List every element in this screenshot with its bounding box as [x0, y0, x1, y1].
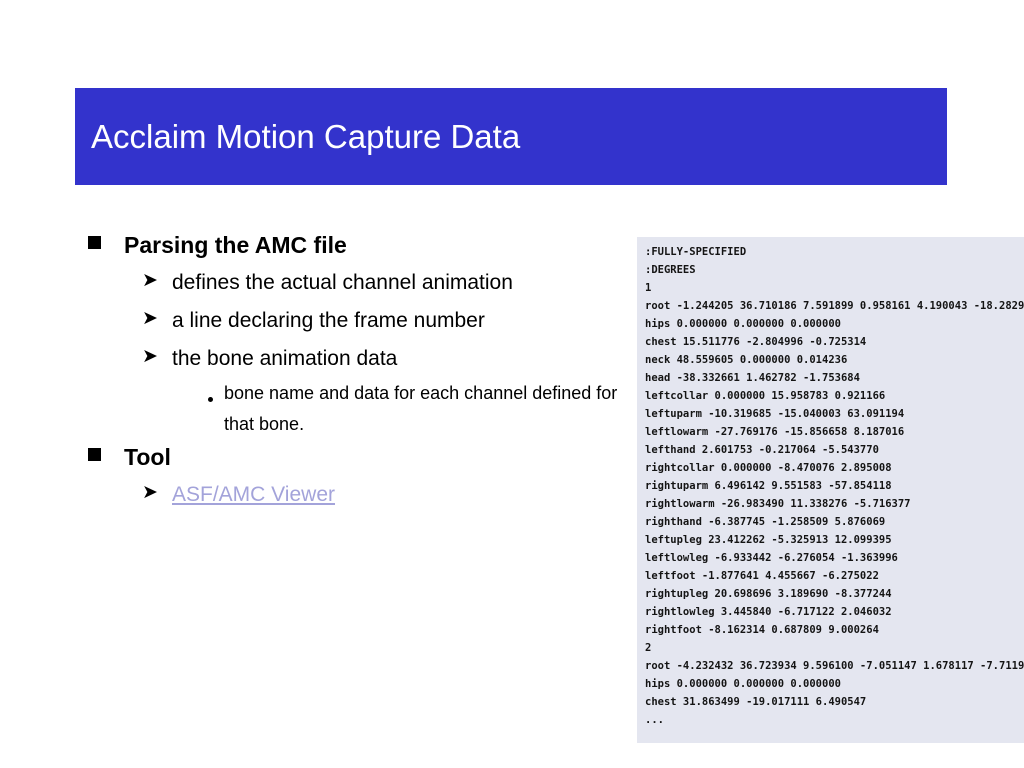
slide-title-bar: Acclaim Motion Capture Data	[75, 88, 947, 185]
round-dot-bullet-icon	[208, 397, 213, 402]
outline-item-label: Parsing the AMC file	[124, 228, 628, 262]
code-line: leftfoot -1.877641 4.455667 -6.275022	[645, 567, 1024, 585]
arrowhead-bullet-icon: ➤	[142, 270, 158, 290]
code-line: neck 48.559605 0.000000 0.014236	[645, 351, 1024, 369]
square-bullet-icon	[88, 236, 101, 249]
outline-item-level2: ➤the bone animation data	[142, 340, 628, 378]
outline-item-label: Tool	[124, 440, 628, 474]
outline-item-level1: Parsing the AMC file	[88, 228, 628, 262]
outline-item-label: a line declaring the frame number	[172, 302, 628, 340]
arrowhead-bullet-icon: ➤	[142, 302, 172, 328]
code-line: :FULLY-SPECIFIED	[645, 243, 1024, 261]
code-line: leftlowleg -6.933442 -6.276054 -1.363996	[645, 549, 1024, 567]
square-bullet-icon	[88, 448, 101, 461]
code-line: head -38.332661 1.462782 -1.753684	[645, 369, 1024, 387]
outline-item-level2: ➤defines the actual channel animation	[142, 264, 628, 302]
code-line: root -4.232432 36.723934 9.596100 -7.051…	[645, 657, 1024, 675]
amc-code-listing: :FULLY-SPECIFIED:DEGREES1root -1.244205 …	[645, 243, 1024, 729]
code-line: righthand -6.387745 -1.258509 5.876069	[645, 513, 1024, 531]
code-line: hips 0.000000 0.000000 0.000000	[645, 675, 1024, 693]
outline-item-level3: bone name and data for each channel defi…	[196, 378, 628, 440]
code-line: leftupleg 23.412262 -5.325913 12.099395	[645, 531, 1024, 549]
arrowhead-bullet-icon: ➤	[142, 340, 172, 366]
code-line: leftlowarm -27.769176 -15.856658 8.18701…	[645, 423, 1024, 441]
page-title: Acclaim Motion Capture Data	[75, 118, 520, 156]
code-line: rightupleg 20.698696 3.189690 -8.377244	[645, 585, 1024, 603]
arrowhead-bullet-icon: ➤	[142, 264, 172, 290]
outline-item-level1: Tool	[88, 440, 628, 474]
code-line: lefthand 2.601753 -0.217064 -5.543770	[645, 441, 1024, 459]
code-line: rightlowarm -26.983490 11.338276 -5.7163…	[645, 495, 1024, 513]
code-line: rightcollar 0.000000 -8.470076 2.895008	[645, 459, 1024, 477]
code-line: ...	[645, 711, 1024, 729]
outline-item-label: defines the actual channel animation	[172, 264, 628, 302]
code-line: chest 15.511776 -2.804996 -0.725314	[645, 333, 1024, 351]
square-bullet-icon	[88, 228, 124, 253]
outline-item-level2: ➤a line declaring the frame number	[142, 302, 628, 340]
round-dot-bullet-icon	[196, 378, 224, 406]
square-bullet-icon	[88, 440, 124, 465]
code-line: root -1.244205 36.710186 7.591899 0.9581…	[645, 297, 1024, 315]
arrowhead-bullet-icon: ➤	[142, 308, 158, 328]
asf-amc-viewer-link[interactable]: ASF/AMC Viewer	[172, 476, 628, 514]
outline-item-level2[interactable]: ➤ASF/AMC Viewer	[142, 476, 628, 514]
outline-item-label: bone name and data for each channel defi…	[224, 378, 624, 440]
code-line: rightlowleg 3.445840 -6.717122 2.046032	[645, 603, 1024, 621]
code-line: :DEGREES	[645, 261, 1024, 279]
code-line: chest 31.863499 -19.017111 6.490547	[645, 693, 1024, 711]
code-line: hips 0.000000 0.000000 0.000000	[645, 315, 1024, 333]
arrowhead-bullet-icon: ➤	[142, 476, 172, 502]
arrowhead-bullet-icon: ➤	[142, 482, 158, 502]
code-line: leftcollar 0.000000 15.958783 0.921166	[645, 387, 1024, 405]
code-line: rightuparm 6.496142 9.551583 -57.854118	[645, 477, 1024, 495]
code-line: 2	[645, 639, 1024, 657]
code-line: rightfoot -8.162314 0.687809 9.000264	[645, 621, 1024, 639]
outline-item-label: the bone animation data	[172, 340, 628, 378]
code-line: leftuparm -10.319685 -15.040003 63.09119…	[645, 405, 1024, 423]
slide-outline: Parsing the AMC file➤defines the actual …	[88, 228, 628, 514]
code-line: 1	[645, 279, 1024, 297]
arrowhead-bullet-icon: ➤	[142, 346, 158, 366]
amc-file-sample-panel: :FULLY-SPECIFIED:DEGREES1root -1.244205 …	[637, 237, 1024, 743]
